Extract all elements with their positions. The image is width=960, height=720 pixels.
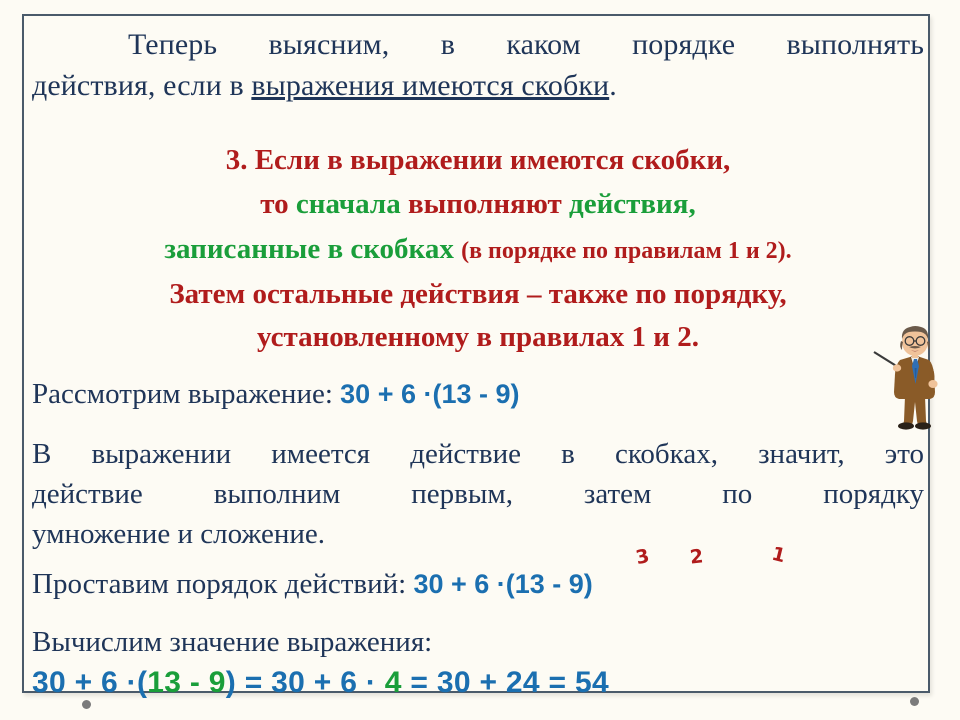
- order-expression: 30 + 6 ·(13 - 9): [413, 569, 592, 599]
- rule-line-5: установленному в правилах 1 и 2.: [30, 321, 926, 354]
- rule-line-4: Затем остальные действия – также по поря…: [30, 278, 926, 311]
- intro-paragraph: Теперь выясним, в каком порядке выполнят…: [32, 24, 924, 106]
- rule-line-3: записанные в скобках (в порядке по прави…: [30, 233, 926, 266]
- rule-line-3-green: записанные в скобках: [164, 233, 453, 265]
- explain-line-2: действие выполним первым, затем по поряд…: [32, 474, 924, 514]
- compute-label: Вычислим значение выражения:: [32, 622, 912, 662]
- slide-canvas: Теперь выясним, в каком порядке выполнят…: [0, 0, 960, 720]
- rule-line-3-red: (в порядке по правилам 1 и 2).: [461, 238, 792, 264]
- slide-frame: Теперь выясним, в каком порядке выполнят…: [22, 14, 930, 693]
- final-part-2-green: 13 - 9: [147, 666, 226, 699]
- consider-line: Рассмотрим выражение: 30 + 6 ·(13 - 9): [32, 374, 912, 414]
- intro-line-1: Теперь выясним, в каком порядке выполнят…: [32, 24, 924, 65]
- rule-line-2-word-2: сначала: [296, 188, 401, 220]
- final-part-4-green: 4: [385, 666, 402, 699]
- explain-line-1: В выражении имеется действие в скобках, …: [32, 434, 924, 474]
- consider-label: Рассмотрим выражение:: [32, 378, 333, 410]
- consider-expression: 30 + 6 ·(13 - 9): [340, 379, 519, 409]
- rule-line-1: 3. Если в выражении имеются скобки,: [30, 144, 926, 177]
- decorative-dot-right: [910, 697, 919, 706]
- order-mark-2: 2: [689, 545, 704, 568]
- order-line: Проставим порядок действий: 30 + 6 ·(13 …: [32, 564, 912, 604]
- intro-line-2-suffix: .: [609, 69, 617, 102]
- explanation-paragraph: В выражении имеется действие в скобках, …: [32, 434, 924, 554]
- final-part-1: 30 + 6 ·(: [32, 666, 147, 699]
- intro-line-2-prefix: действия, если в: [32, 69, 251, 102]
- final-part-5: = 30 + 24 = 54: [402, 666, 609, 699]
- explain-line-3: умножение и сложение.: [32, 518, 325, 550]
- rule-line-2-word-1: то: [260, 188, 288, 220]
- rule-line-2-word-4: действия,: [569, 188, 696, 220]
- decorative-dot-left: [82, 700, 91, 709]
- intro-underlined-phrase: выражения имеются скобки: [251, 69, 609, 102]
- order-label: Проставим порядок действий:: [32, 568, 406, 600]
- rule-line-2-word-3: выполняют: [408, 188, 562, 220]
- rule-line-2: то сначала выполняют действия,: [30, 188, 926, 221]
- final-equation: 30 + 6 ·(13 - 9) = 30 + 6 · 4 = 30 + 24 …: [32, 666, 922, 700]
- final-part-3: ) = 30 + 6 ·: [226, 666, 385, 699]
